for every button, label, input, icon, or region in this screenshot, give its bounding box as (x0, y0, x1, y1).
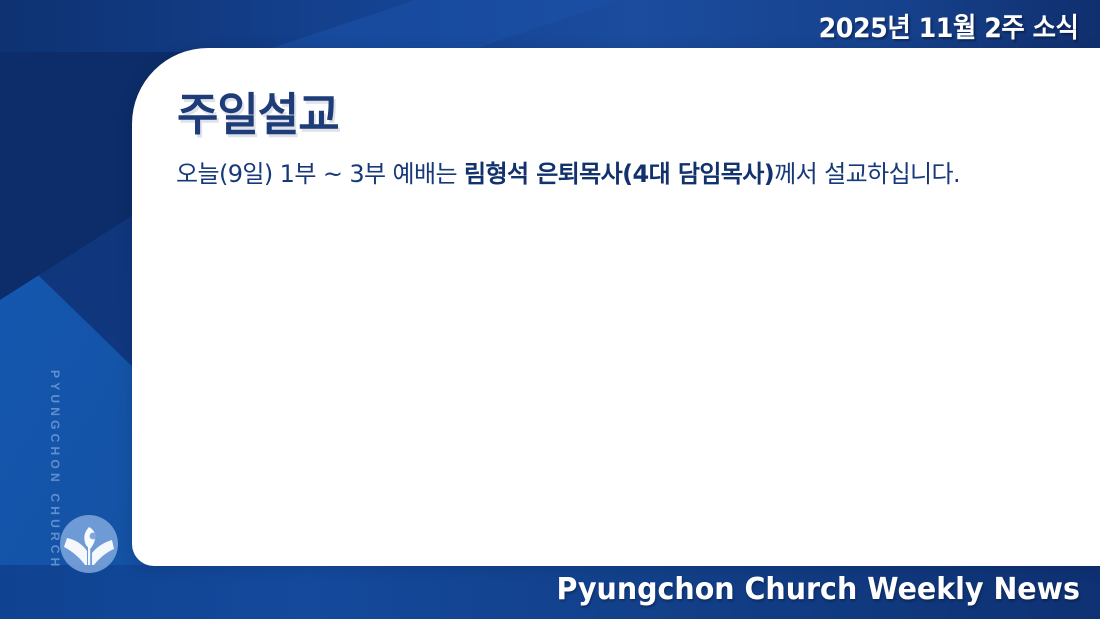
slide-canvas: 2025년 11월 2주 소식 주일설교 오늘(9일) 1부 ~ 3부 예배는 … (0, 0, 1100, 619)
announcement-text: 오늘(9일) 1부 ~ 3부 예배는 림형석 은퇴목사(4대 담임목사)께서 설… (176, 152, 1056, 196)
church-dove-flower-logo-icon (58, 513, 120, 575)
vertical-brand-label: PYUNGCHON CHURCH (48, 370, 62, 520)
footer-brand-title: Pyungchon Church Weekly News (557, 572, 1080, 607)
issue-date-label: 2025년 11월 2주 소식 (818, 6, 1078, 45)
announcement-lead: 오늘(9일) 1부 ~ 3부 예배는 (176, 160, 464, 188)
page-title: 주일설교 (177, 78, 339, 143)
announcement-emphasis: 림형석 은퇴목사(4대 담임목사) (464, 160, 774, 188)
content-card: 주일설교 오늘(9일) 1부 ~ 3부 예배는 림형석 은퇴목사(4대 담임목사… (132, 48, 1100, 566)
announcement-tail: 께서 설교하십니다. (774, 160, 960, 188)
